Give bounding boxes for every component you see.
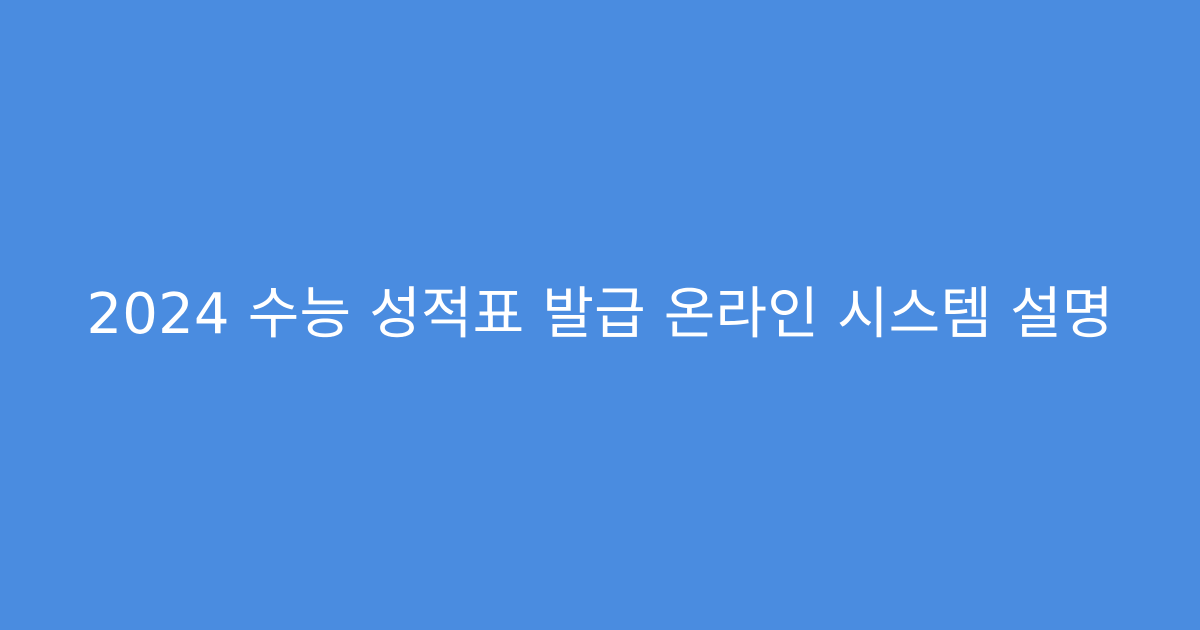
card-title: 2024 수능 성적표 발급 온라인 시스템 설명 [86, 277, 1113, 353]
og-card: 2024 수능 성적표 발급 온라인 시스템 설명 [0, 0, 1200, 630]
og-card-content: 2024 수능 성적표 발급 온라인 시스템 설명 [0, 277, 1200, 353]
